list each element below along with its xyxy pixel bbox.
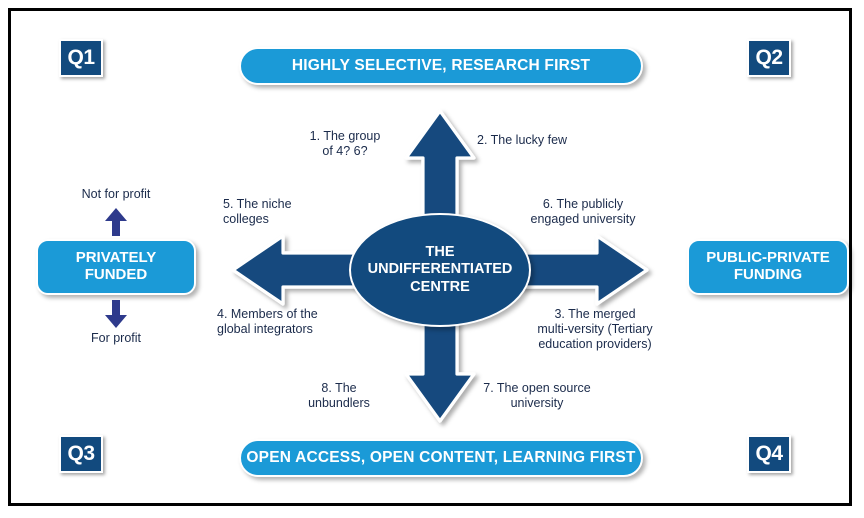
annotation-6-line1: 6. The publicly	[513, 197, 653, 212]
annotation-6-line2: engaged university	[513, 212, 653, 227]
annotation-7: 7. The open source university	[467, 381, 607, 411]
annotation-1-line1: 1. The group	[293, 129, 397, 144]
diagram-canvas: THE UNDIFFERENTIATED CENTRE Q1 Q2 Q3 Q4 …	[11, 11, 849, 503]
annotation-5: 5. The niche colleges	[223, 197, 331, 227]
annotation-2: 2. The lucky few	[477, 133, 597, 148]
annotation-1: 1. The group of 4? 6?	[293, 129, 397, 159]
annotation-5-line2: colleges	[223, 212, 331, 227]
centre-label-line1: THE	[368, 244, 513, 261]
annotation-8: 8. The unbundlers	[297, 381, 381, 411]
annotation-8-line1: 8. The	[297, 381, 381, 396]
annotation-7-line2: university	[467, 396, 607, 411]
centre-node: THE UNDIFFERENTIATED CENTRE	[349, 213, 531, 327]
annotation-2-line1: 2. The lucky few	[477, 133, 597, 148]
annotation-1-line2: of 4? 6?	[293, 144, 397, 159]
centre-label-line3: CENTRE	[368, 279, 513, 296]
annotation-5-line1: 5. The niche	[223, 197, 331, 212]
arrow-right-icon	[517, 236, 647, 304]
annotation-8-line2: unbundlers	[297, 396, 381, 411]
annotation-4-line1: 4. Members of the	[217, 307, 343, 322]
left-axis-top-note: Not for profit	[36, 187, 196, 201]
annotation-3: 3. The merged multi-versity (Tertiary ed…	[519, 307, 671, 352]
annotation-7-line1: 7. The open source	[467, 381, 607, 396]
annotation-4: 4. Members of the global integrators	[217, 307, 343, 337]
annotation-3-line3: education providers)	[519, 337, 671, 352]
arrow-down-icon-small	[103, 299, 129, 329]
arrow-left-icon	[233, 236, 363, 304]
annotation-4-line2: global integrators	[217, 322, 343, 337]
annotation-6: 6. The publicly engaged university	[513, 197, 653, 227]
centre-label-line2: UNDIFFERENTIATED	[368, 261, 513, 278]
left-axis-bottom-note: For profit	[36, 331, 196, 345]
annotation-3-line1: 3. The merged	[519, 307, 671, 322]
diagram-frame: THE UNDIFFERENTIATED CENTRE Q1 Q2 Q3 Q4 …	[8, 8, 852, 506]
arrow-up-icon-small	[103, 207, 129, 237]
annotation-3-line2: multi-versity (Tertiary	[519, 322, 671, 337]
